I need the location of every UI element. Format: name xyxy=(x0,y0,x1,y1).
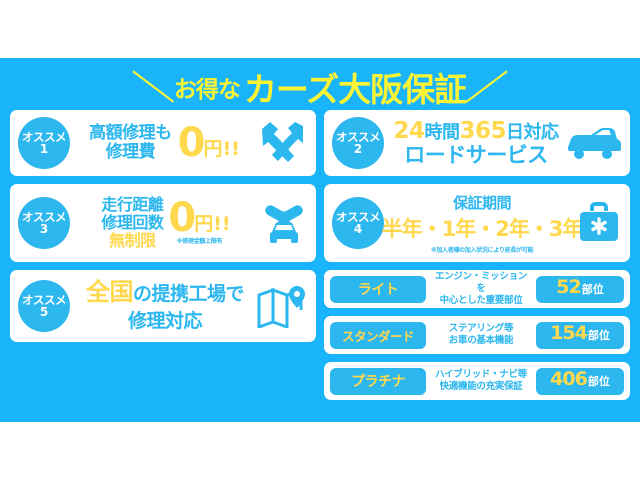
feature-3-note: ※修理金額上限有 xyxy=(168,236,230,245)
plan-count-number: 154 xyxy=(550,322,587,344)
feature-1-amount: 0 円!! xyxy=(178,125,240,161)
headline-slash-left: ＼ xyxy=(131,71,175,104)
feature-5-text: 全国の提携工場で 修理対応 xyxy=(86,279,244,334)
plan-count-unit: 部位 xyxy=(582,281,604,297)
feature-card-2: オススメ 2 24時間365日対応 ロードサービス xyxy=(324,110,630,176)
feature-card-5: オススメ 5 全国の提携工場で 修理対応 xyxy=(10,270,316,342)
feature-2-days: 365 xyxy=(460,118,507,144)
plan-desc-line2: お車の基本機能 xyxy=(431,335,531,347)
feature-2-days-unit: 日対応 xyxy=(506,122,559,143)
feature-4-line1: 保証期間 xyxy=(382,192,583,213)
recommend-badge-1: オススメ 1 xyxy=(18,117,70,169)
feature-card-3: オススメ 3 走行距離 修理回数 無制限 0 円!! xyxy=(10,184,316,262)
badge-label: オススメ xyxy=(22,131,66,143)
plan-row-standard[interactable]: スタンダード ステアリング等 お車の基本機能 154 部位 xyxy=(324,316,630,354)
plan-description: エンジン・ミッションを 中心とした重要部位 xyxy=(431,271,531,307)
plan-name-pill: プラチナ xyxy=(330,368,426,395)
feature-3-line1: 走行距離 xyxy=(101,196,163,214)
plan-desc-line1: エンジン・ミッションを xyxy=(431,271,531,295)
plan-description: ステアリング等 お車の基本機能 xyxy=(431,323,531,347)
feature-3-text: 走行距離 修理回数 無制限 xyxy=(101,196,163,251)
poster-band: ＼ お得な カーズ大阪保証 ／ オススメ 1 高額修理も 修理費 xyxy=(0,58,640,422)
badge-number: 5 xyxy=(40,306,48,319)
poster-image: ＼ お得な カーズ大阪保証 ／ オススメ 1 高額修理も 修理費 xyxy=(0,0,640,480)
feature-5-line1: 全国の提携工場で xyxy=(86,279,244,307)
feature-3-amount-unit: 円!! xyxy=(194,209,230,236)
plan-count-badge: 52 部位 xyxy=(536,276,624,303)
recommend-badge-2: オススメ 2 xyxy=(332,117,384,169)
headline-slash-right: ／ xyxy=(465,71,509,104)
plan-desc-line2: 中心とした重要部位 xyxy=(431,295,531,307)
feature-1-amount-unit: 円!! xyxy=(204,134,240,161)
feature-5-line1-rest: の提携工場で xyxy=(133,283,244,305)
plan-desc-line1: ハイブリッド・ナビ等 xyxy=(431,369,531,381)
badge-number: 1 xyxy=(40,143,48,156)
badge-label: オススメ xyxy=(22,211,66,223)
feature-1-text: 高額修理も 修理費 xyxy=(89,124,172,162)
badge-number: 2 xyxy=(354,143,362,156)
recommend-badge-3: オススメ 3 xyxy=(18,197,70,249)
feature-3-amount: 0 円!! ※修理金額上限有 xyxy=(168,200,230,245)
plan-count-unit: 部位 xyxy=(588,373,610,389)
feature-4-line2: 半年・1年・2年・3年 xyxy=(382,213,583,243)
badge-number: 4 xyxy=(354,223,362,236)
headline-large-text: カーズ大阪保証 xyxy=(244,63,466,111)
feature-2-line2: ロードサービス xyxy=(393,144,558,167)
feature-2-line1: 24時間365日対応 xyxy=(393,119,558,144)
feature-2-hours-unit: 時間 xyxy=(425,122,460,143)
feature-card-1: オススメ 1 高額修理も 修理費 0 円!! xyxy=(10,110,316,176)
recommend-badge-4: オススメ 4 xyxy=(332,197,384,249)
plan-desc-line1: ステアリング等 xyxy=(431,323,531,335)
feature-1-amount-number: 0 xyxy=(178,125,204,161)
map-pin-icon xyxy=(256,284,308,328)
feature-2-text: 24時間365日対応 ロードサービス xyxy=(393,119,558,167)
headline-small-text: お得な xyxy=(174,70,240,104)
poster-grid: オススメ 1 高額修理も 修理費 0 円!! xyxy=(10,110,630,414)
feature-card-4: オススメ 4 保証期間 半年・1年・2年・3年 ※加入者様の加入状況により延長が… xyxy=(324,184,630,262)
car-icon xyxy=(564,125,622,161)
plan-count-number: 52 xyxy=(556,276,580,298)
feature-1-line2: 修理費 xyxy=(89,143,172,162)
feature-1-line1: 高額修理も xyxy=(89,124,172,143)
plan-count-number: 406 xyxy=(550,368,587,390)
plan-row-light[interactable]: ライト エンジン・ミッションを 中心とした重要部位 52 部位 xyxy=(324,270,630,308)
feature-4-text: 保証期間 半年・1年・2年・3年 ※加入者様の加入状況により延長が可能 xyxy=(382,192,583,254)
poster-headline: ＼ お得な カーズ大阪保証 ／ xyxy=(10,64,630,110)
plan-name-pill: スタンダード xyxy=(330,322,426,349)
feature-3-line2: 修理回数 xyxy=(101,214,163,232)
car-repair-icon xyxy=(260,198,308,248)
plan-description: ハイブリッド・ナビ等 快適機能の充実保証 xyxy=(431,369,531,393)
feature-5-line1-highlight: 全国 xyxy=(86,278,133,306)
recommend-badge-5: オススメ 5 xyxy=(18,280,70,332)
badge-label: オススメ xyxy=(336,211,380,223)
badge-label: オススメ xyxy=(22,294,66,306)
plan-desc-line2: 快適機能の充実保証 xyxy=(431,381,531,393)
badge-label: オススメ xyxy=(336,131,380,143)
badge-number: 3 xyxy=(40,223,48,236)
left-column: オススメ 1 高額修理も 修理費 0 円!! xyxy=(10,110,316,414)
feature-2-hours: 24 xyxy=(393,118,424,144)
feature-5-line2: 修理対応 xyxy=(86,306,244,333)
feature-3-amount-number: 0 xyxy=(168,200,194,236)
feature-4-note: ※加入者様の加入状況により延長が可能 xyxy=(382,245,583,254)
plan-count-unit: 部位 xyxy=(588,327,610,343)
plan-row-platinum[interactable]: プラチナ ハイブリッド・ナビ等 快適機能の充実保証 406 部位 xyxy=(324,362,630,400)
right-column: オススメ 2 24時間365日対応 ロードサービス xyxy=(324,110,630,414)
hammer-wrench-icon xyxy=(258,120,308,166)
plan-count-badge: 154 部位 xyxy=(536,322,624,349)
feature-3-line3: 無制限 xyxy=(101,232,163,250)
toolbox-icon xyxy=(576,201,622,245)
plan-count-badge: 406 部位 xyxy=(536,368,624,395)
plan-name-pill: ライト xyxy=(330,276,426,303)
